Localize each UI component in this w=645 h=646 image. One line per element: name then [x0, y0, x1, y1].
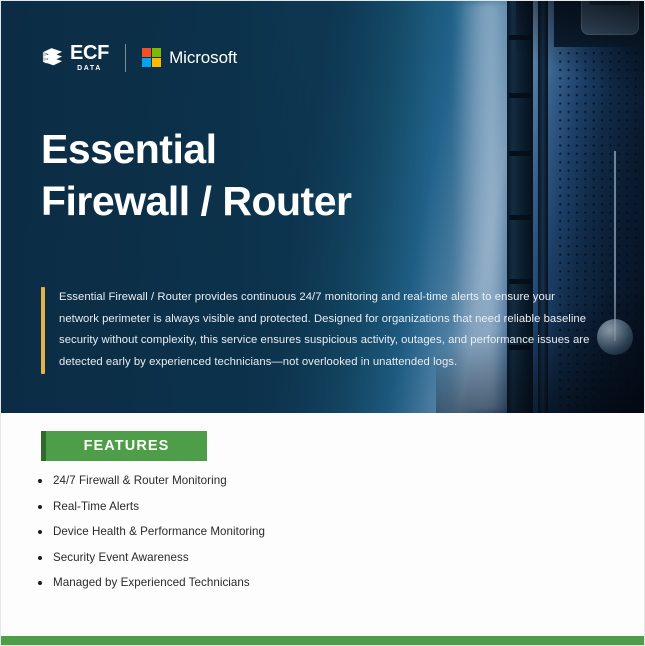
logo-divider [125, 44, 126, 72]
feature-list: 24/7 Firewall & Router Monitoring Real-T… [38, 473, 265, 601]
hero-description: Essential Firewall / Router provides con… [59, 287, 591, 374]
features-badge: FEATURES [41, 431, 207, 461]
list-item: Managed by Experienced Technicians [38, 575, 265, 590]
bullet-icon [38, 530, 42, 534]
feature-label: Security Event Awareness [53, 550, 189, 565]
bullet-icon [38, 581, 42, 585]
bullet-icon [38, 479, 42, 483]
bullet-icon [38, 556, 42, 560]
hero-banner: ECF DATA Microsoft Essential Firewall / … [1, 1, 645, 413]
ecf-name: ECF [70, 43, 109, 63]
hero-description-block: Essential Firewall / Router provides con… [41, 287, 591, 374]
ecf-data-logo: ECF DATA [41, 43, 109, 72]
footer-accent-bar [1, 636, 645, 645]
microsoft-logo: Microsoft [142, 48, 237, 68]
list-item: Device Health & Performance Monitoring [38, 524, 265, 539]
datasheet-page: ECF DATA Microsoft Essential Firewall / … [0, 0, 645, 646]
features-section: FEATURES 24/7 Firewall & Router Monitori… [1, 413, 645, 638]
features-badge-label: FEATURES [84, 438, 170, 454]
list-item: 24/7 Firewall & Router Monitoring [38, 473, 265, 488]
ecf-wordmark: ECF DATA [70, 43, 109, 72]
list-item: Security Event Awareness [38, 550, 265, 565]
ms-square-green [152, 48, 161, 57]
vent-rib [509, 151, 531, 156]
vent-rib [509, 279, 531, 284]
microsoft-squares-icon [142, 48, 161, 67]
feature-label: Managed by Experienced Technicians [53, 575, 250, 590]
title-line-2: Firewall / Router [41, 175, 351, 227]
feature-label: 24/7 Firewall & Router Monitoring [53, 473, 227, 488]
hero-vignette-top [516, 1, 645, 96]
ms-square-red [142, 48, 151, 57]
feature-label: Device Health & Performance Monitoring [53, 524, 265, 539]
ms-square-yellow [152, 58, 161, 67]
ecf-subtitle: DATA [70, 65, 109, 72]
bullet-icon [38, 505, 42, 509]
description-accent-bar [41, 287, 45, 374]
vent-rib [509, 215, 531, 220]
list-item: Real-Time Alerts [38, 499, 265, 514]
stacked-layers-icon [41, 46, 64, 70]
microsoft-wordmark: Microsoft [169, 48, 237, 68]
feature-label: Real-Time Alerts [53, 499, 139, 514]
logo-row: ECF DATA Microsoft [41, 43, 237, 72]
ms-square-blue [142, 58, 151, 67]
page-title: Essential Firewall / Router [41, 123, 351, 228]
title-line-1: Essential [41, 123, 351, 175]
